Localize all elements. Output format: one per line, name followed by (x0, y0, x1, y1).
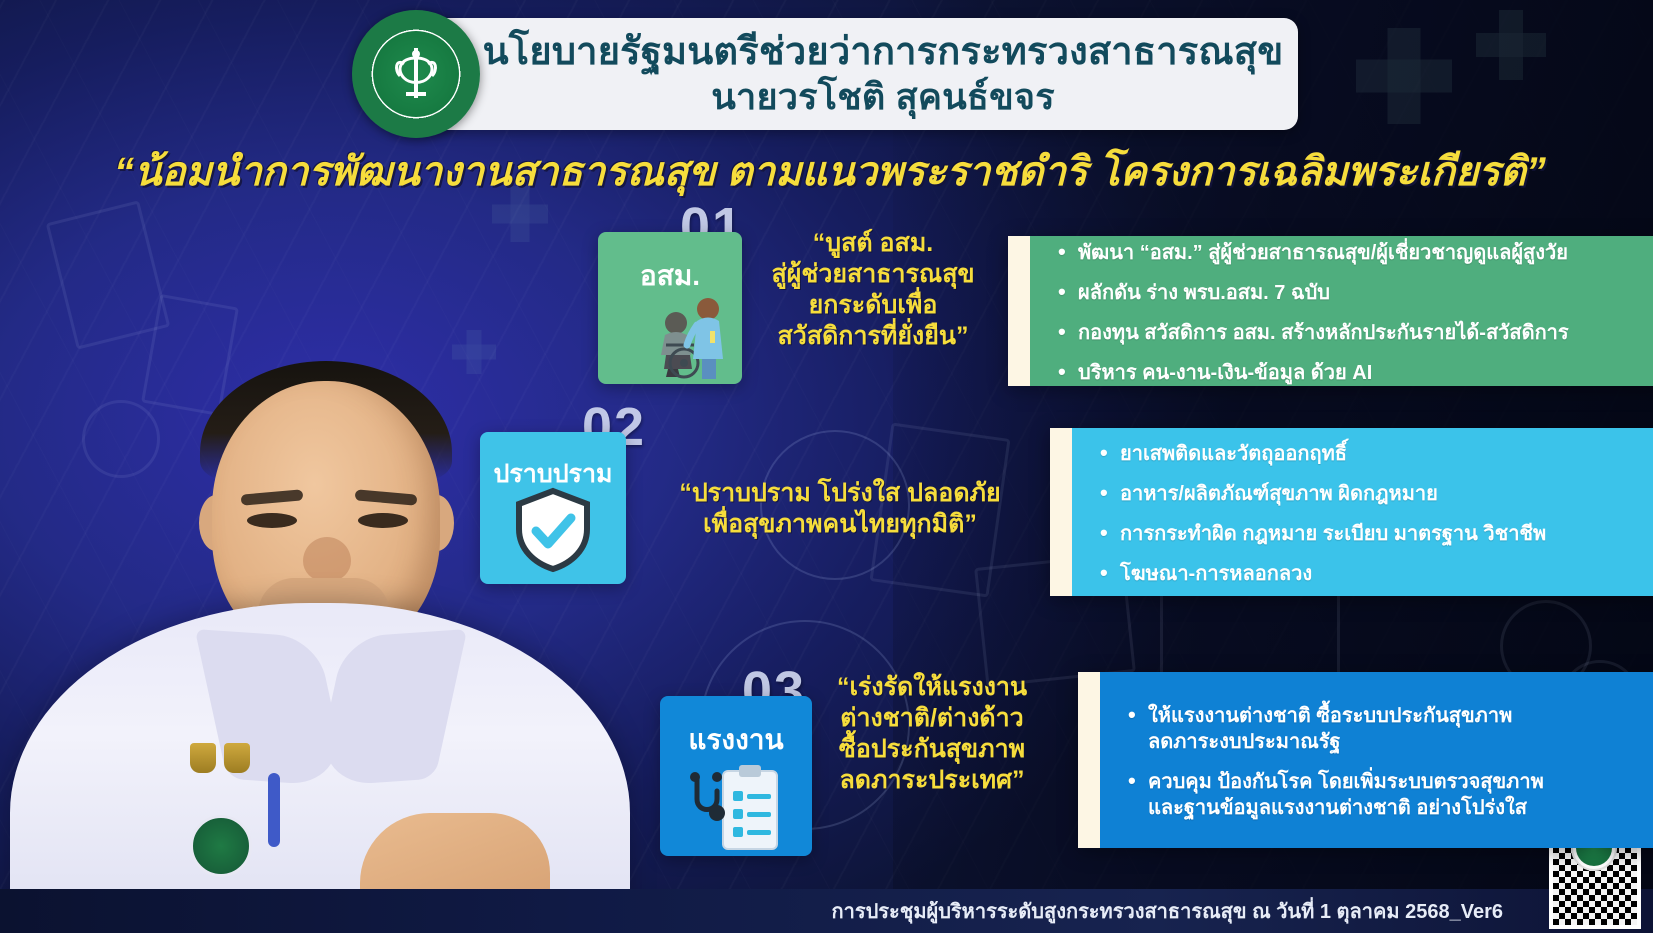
wheelchair-caregiver-icon (644, 287, 740, 384)
bullet-item: พัฒนา “อสม.” สู่ผู้ช่วยสาธารณสุข/ผู้เชี่… (1056, 240, 1650, 266)
moph-seal-icon (352, 10, 480, 138)
quote-line: “เร่งรัดให้แรงงาน (818, 672, 1046, 703)
infographic-canvas: นโยบายรัฐมนตรีช่วยว่าการกระทรวงสาธารณสุข… (0, 0, 1653, 933)
bullet-item: บริหาร คน-งาน-เงิน-ข้อมูล ด้วย AI (1056, 360, 1650, 386)
bullet-item: ยาเสพติดและวัตถุออกฤทธิ์ (1098, 441, 1652, 467)
quote-line: เพื่อสุขภาพคนไทยทุกมิติ” (640, 509, 1040, 540)
section-tag-label-03: แรงงาน (688, 718, 783, 762)
panel-edge-accent (1078, 672, 1100, 848)
bullet-item: กองทุน สวัสดิการ อสม. สร้างหลักประกันราย… (1056, 320, 1650, 346)
portrait-uniform-pin (190, 743, 216, 773)
section-tag-card-03: แรงงาน (660, 696, 812, 856)
section-bullet-panel-01: พัฒนา “อสม.” สู่ผู้ช่วยสาธารณสุข/ผู้เชี่… (1008, 236, 1653, 386)
portrait-pen (268, 773, 280, 847)
section-quote-02: “ปราบปราม โปร่งใส ปลอดภัย เพื่อสุขภาพคนไ… (640, 478, 1040, 540)
royal-slogan: “น้อมนำการพัฒนางานสาธารณสุข ตามแนวพระราช… (40, 146, 1620, 198)
doodle-medical-cross-icon (1356, 28, 1452, 124)
panel-edge-accent (1050, 428, 1072, 596)
panel-edge-accent (1008, 236, 1030, 386)
page-title: นโยบายรัฐมนตรีช่วยว่าการกระทรวงสาธารณสุข (483, 29, 1284, 75)
bullet-list-01: พัฒนา “อสม.” สู่ผู้ช่วยสาธารณสุข/ผู้เชี่… (1030, 236, 1653, 386)
section-tag-card-01: อสม. (598, 232, 742, 384)
portrait-moph-emblem (190, 815, 252, 877)
section-art-01 (598, 298, 742, 384)
quote-line: ซื้อประกันสุขภาพ (818, 734, 1046, 765)
bullet-item: ให้แรงงานต่างชาติ ซื้อระบบประกันสุขภาพ ล… (1126, 703, 1652, 755)
quote-line: ลดภาระประเทศ” (818, 765, 1046, 796)
bullet-item: อาหาร/ผลิตภัณฑ์สุขภาพ ผิดกฎหมาย (1098, 481, 1652, 507)
section-quote-01: “บูสต์ อสม. สู่ผู้ช่วยสาธารณสุข ยกระดับเ… (748, 228, 998, 352)
shield-check-icon (510, 487, 596, 578)
section-tag-card-02: ปราบปราม (480, 432, 626, 584)
clipboard-stethoscope-icon (687, 761, 791, 856)
bullet-item: โฆษณา-การหลอกลวง (1098, 561, 1652, 587)
section-art-02 (480, 494, 626, 584)
bullet-item: ผลักดัน ร่าง พรบ.อสม. 7 ฉบับ (1056, 280, 1650, 306)
portrait-eye-left (247, 513, 297, 528)
portrait-uniform-pin (224, 743, 250, 773)
doodle-medical-cross-icon (1476, 10, 1546, 80)
bullet-list-02: ยาเสพติดและวัตถุออกฤทธิ์ อาหาร/ผลิตภัณฑ์… (1072, 428, 1653, 596)
quote-line: “ปราบปราม โปร่งใส ปลอดภัย (640, 478, 1040, 509)
portrait-nose (303, 537, 351, 581)
page-subtitle: นายวรโชติ สุคนธ์ขจร (711, 75, 1055, 119)
bullet-item: ควบคุม ป้องกันโรค โดยเพิ่มระบบตรวจสุขภาพ… (1126, 769, 1652, 821)
section-bullet-panel-02: ยาเสพติดและวัตถุออกฤทธิ์ อาหาร/ผลิตภัณฑ์… (1050, 428, 1653, 596)
bullet-list-03: ให้แรงงานต่างชาติ ซื้อระบบประกันสุขภาพ ล… (1100, 672, 1653, 848)
portrait-eye-right (358, 513, 408, 528)
quote-line: สู่ผู้ช่วยสาธารณสุข (748, 259, 998, 290)
quote-line: ต่างชาติ/ต่างด้าว (818, 703, 1046, 734)
caduceus-icon (390, 44, 442, 104)
footer-bar: การประชุมผู้บริหารระดับสูงกระทรวงสาธารณส… (0, 889, 1653, 933)
section-art-03 (660, 762, 812, 856)
header-title-bar: นโยบายรัฐมนตรีช่วยว่าการกระทรวงสาธารณสุข… (398, 18, 1298, 130)
quote-line: ยกระดับเพื่อ (748, 290, 998, 321)
section-quote-03: “เร่งรัดให้แรงงาน ต่างชาติ/ต่างด้าว ซื้อ… (818, 672, 1046, 796)
quote-line: สวัสดิการที่ยั่งยืน” (748, 321, 998, 352)
bullet-item: การกระทำผิด กฎหมาย ระเบียบ มาตรฐาน วิชาช… (1098, 521, 1652, 547)
quote-line: “บูสต์ อสม. (748, 228, 998, 259)
footer-caption: การประชุมผู้บริหารระดับสูงกระทรวงสาธารณส… (831, 895, 1503, 927)
moph-seal-inner (373, 31, 459, 117)
section-bullet-panel-03: ให้แรงงานต่างชาติ ซื้อระบบประกันสุขภาพ ล… (1078, 672, 1653, 848)
